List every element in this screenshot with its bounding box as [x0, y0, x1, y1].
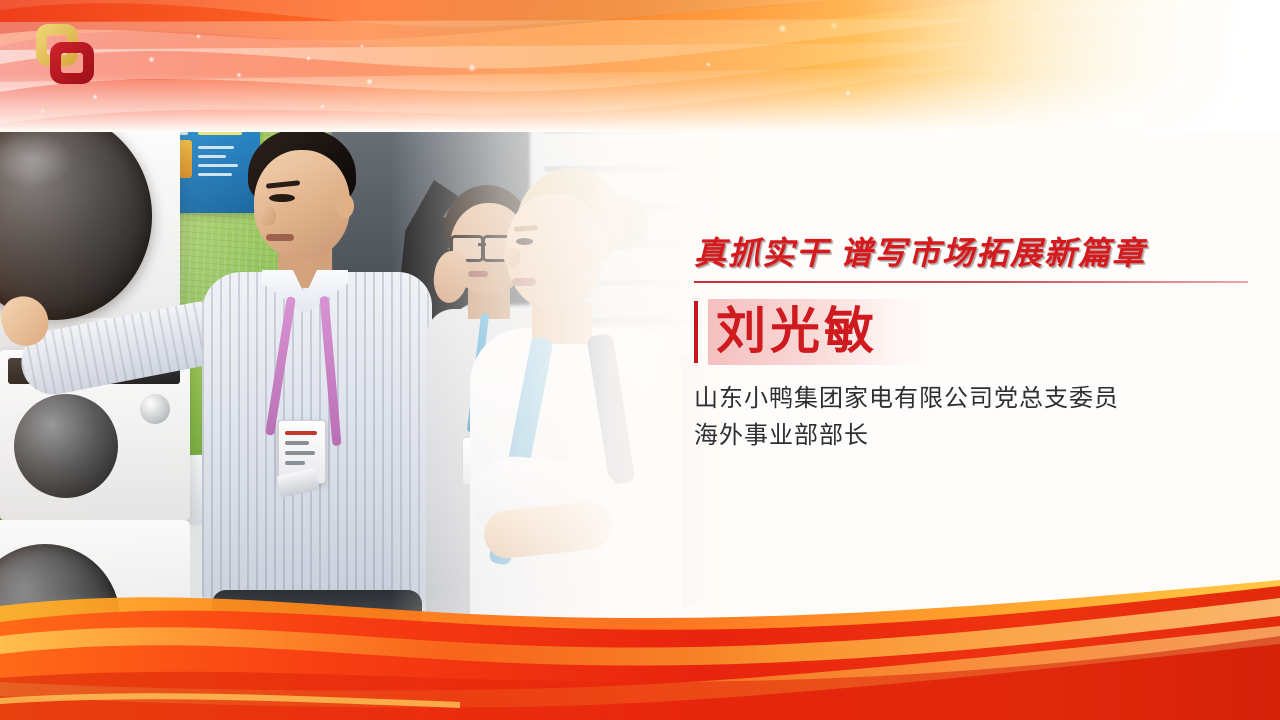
speaker-title: 山东小鸭集团家电有限公司党总支委员 海外事业部部长	[694, 381, 1264, 454]
top-ribbon-right-fade	[860, 0, 1280, 132]
brand-logo[interactable]	[34, 22, 96, 86]
speaker-name-row: 刘光敏	[694, 299, 1264, 365]
top-ribbon-banner	[0, 0, 1280, 132]
speaker-title-line-2: 海外事业部部长	[694, 418, 1264, 454]
bottom-ribbon-waves	[0, 570, 1280, 720]
divider-rule	[694, 281, 1248, 283]
speaker-title-line-1: 山东小鸭集团家电有限公司党总支委员	[694, 381, 1264, 417]
speaker-name: 刘光敏	[716, 297, 878, 365]
title-card: 真抓实干 谱写市场拓展新篇章 刘光敏 山东小鸭集团家电有限公司党总支委员 海外事…	[0, 0, 1280, 720]
title-panel: 真抓实干 谱写市场拓展新篇章 刘光敏 山东小鸭集团家电有限公司党总支委员 海外事…	[694, 236, 1264, 454]
headline-text: 真抓实干 谱写市场拓展新篇章	[694, 236, 1264, 271]
name-accent-bar	[694, 301, 698, 363]
brand-logo-icon	[34, 22, 96, 86]
bottom-ribbon-banner	[0, 570, 1280, 720]
